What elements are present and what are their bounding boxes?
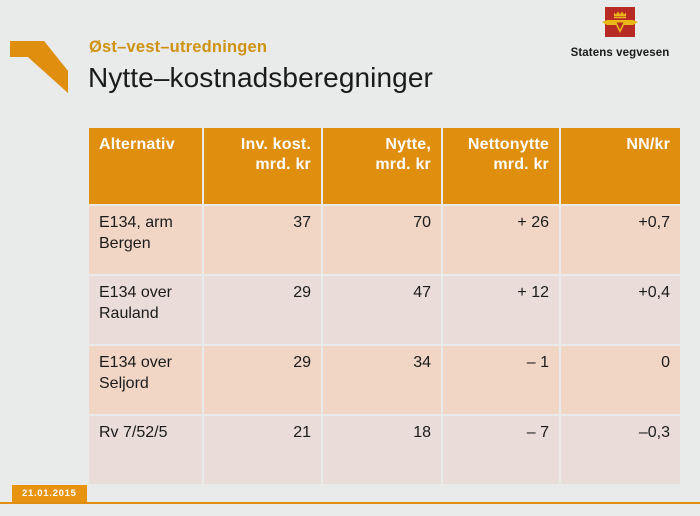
- column-header-nytte-line1: Nytte,: [385, 136, 431, 153]
- cell-nn-per-kr: +0,4: [561, 276, 680, 346]
- cell-alternativ-line1: E134 over: [99, 284, 172, 301]
- benefit-cost-table: Alternativ Inv. kost. mrd. kr Nytte, mrd…: [89, 128, 680, 484]
- column-header-nytte: Nytte, mrd. kr: [323, 128, 443, 206]
- column-header-nn-per-kr-line1: NN/kr: [626, 136, 670, 153]
- column-header-nn-per-kr: NN/kr: [561, 128, 680, 206]
- column-header-nettonytte-line2: mrd. kr: [493, 156, 549, 173]
- column-header-nettonytte-line1: Nettonytte: [468, 136, 549, 153]
- footer-rule: [0, 502, 700, 504]
- cell-nettonytte: + 12: [443, 276, 561, 346]
- table-header-row: Alternativ Inv. kost. mrd. kr Nytte, mrd…: [89, 128, 680, 206]
- column-header-inv-kost-line2: mrd. kr: [255, 156, 311, 173]
- cell-nettonytte: – 1: [443, 346, 561, 416]
- cell-nytte: 34: [323, 346, 443, 416]
- statens-vegvesen-crown-wings-icon: [600, 6, 640, 44]
- page-title: Nytte–kostnadsberegninger: [88, 62, 433, 94]
- table-row: E134 over Rauland 29 47 + 12 +0,4: [89, 276, 680, 346]
- brand-logo: Statens vegvesen: [554, 6, 686, 59]
- cell-alternativ-line2: Rauland: [99, 305, 159, 322]
- slide-kicker: Øst–vest–utredningen: [89, 38, 267, 57]
- cell-alternativ-line1: E134 over: [99, 354, 172, 371]
- cell-alternativ: E134 over Seljord: [89, 346, 204, 416]
- column-header-alternativ-line1: Alternativ: [99, 136, 175, 153]
- cell-inv-kost: 37: [204, 206, 323, 276]
- kpi-table-container: Alternativ Inv. kost. mrd. kr Nytte, mrd…: [89, 128, 680, 484]
- cell-inv-kost: 29: [204, 276, 323, 346]
- column-header-nettonytte: Nettonytte mrd. kr: [443, 128, 561, 206]
- cell-inv-kost: 21: [204, 416, 323, 484]
- brand-name: Statens vegvesen: [554, 47, 686, 59]
- cell-alternativ-line2: Seljord: [99, 375, 149, 392]
- cell-nytte: 70: [323, 206, 443, 276]
- cell-alternativ-line1: Rv 7/52/5: [99, 424, 167, 441]
- cell-nn-per-kr: –0,3: [561, 416, 680, 484]
- table-row: Rv 7/52/5 21 18 – 7 –0,3: [89, 416, 680, 484]
- cell-alternativ-line1: E134, arm: [99, 214, 173, 231]
- table-body: E134, arm Bergen 37 70 + 26 +0,7 E134 ov…: [89, 206, 680, 484]
- column-header-alternativ: Alternativ: [89, 128, 204, 206]
- orange-accent-shape: [10, 39, 68, 93]
- cell-alternativ: E134 over Rauland: [89, 276, 204, 346]
- cell-alternativ: Rv 7/52/5: [89, 416, 204, 484]
- column-header-inv-kost-line1: Inv. kost.: [241, 136, 311, 153]
- footer-date-badge: 21.01.2015: [12, 485, 87, 502]
- cell-nytte: 47: [323, 276, 443, 346]
- cell-alternativ: E134, arm Bergen: [89, 206, 204, 276]
- table-row: E134, arm Bergen 37 70 + 26 +0,7: [89, 206, 680, 276]
- table-row: E134 over Seljord 29 34 – 1 0: [89, 346, 680, 416]
- cell-nettonytte: – 7: [443, 416, 561, 484]
- column-header-nytte-line2: mrd. kr: [375, 156, 431, 173]
- table-header: Alternativ Inv. kost. mrd. kr Nytte, mrd…: [89, 128, 680, 206]
- cell-nytte: 18: [323, 416, 443, 484]
- cell-inv-kost: 29: [204, 346, 323, 416]
- cell-nn-per-kr: +0,7: [561, 206, 680, 276]
- cell-nn-per-kr: 0: [561, 346, 680, 416]
- cell-nettonytte: + 26: [443, 206, 561, 276]
- column-header-inv-kost: Inv. kost. mrd. kr: [204, 128, 323, 206]
- cell-alternativ-line2: Bergen: [99, 235, 151, 252]
